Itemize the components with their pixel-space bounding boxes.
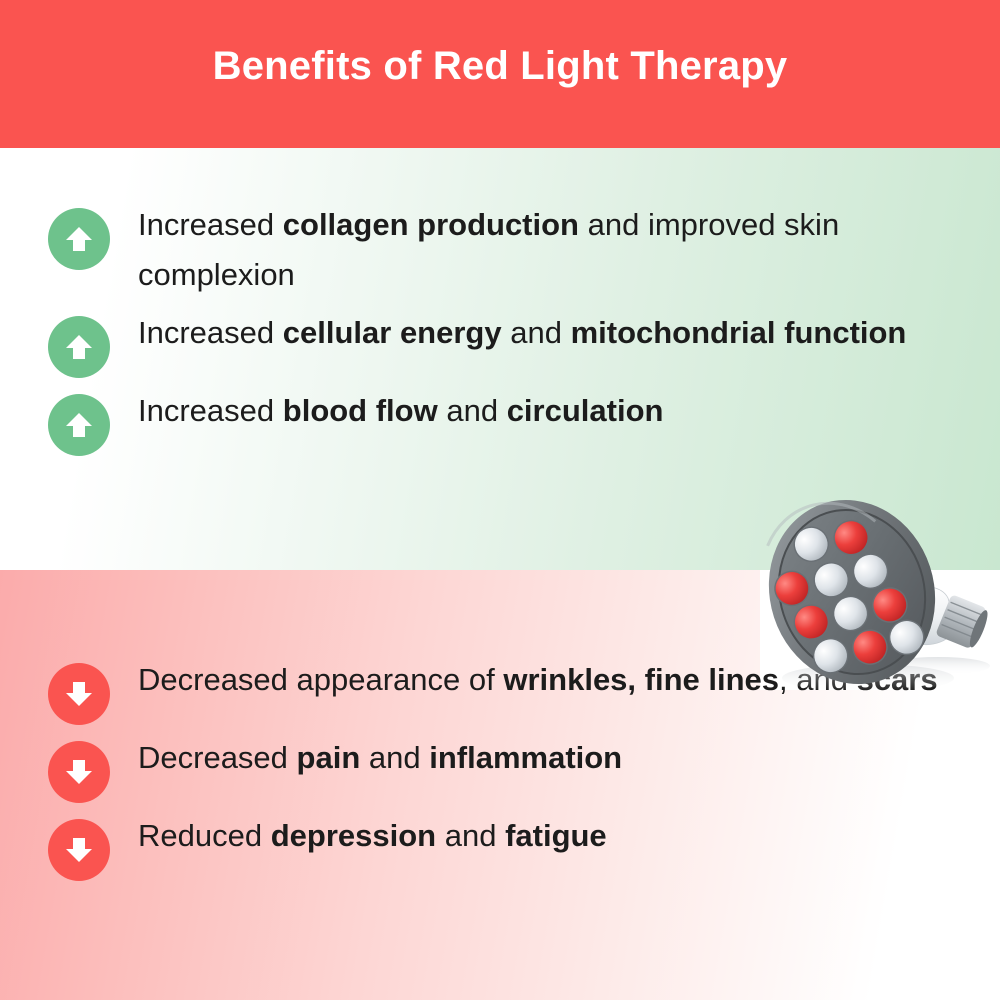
bullet-text: Increased collagen production and improv… (138, 200, 978, 300)
page-title: Benefits of Red Light Therapy (0, 44, 1000, 89)
bullet-part: and (436, 818, 505, 853)
arrow-down-icon (48, 663, 110, 725)
bullet-part: and (438, 393, 507, 428)
arrow-down-icon (48, 819, 110, 881)
bullet-text: Increased blood flow and circulation (138, 386, 978, 436)
bullet-item-cellular-energy: Increased cellular energy and mitochondr… (0, 308, 1000, 378)
bullet-part-bold: collagen production (283, 207, 579, 242)
bullet-item-depression: Reduced depression and fatigue (0, 811, 1000, 881)
bullet-text: Increased cellular energy and mitochondr… (138, 308, 978, 358)
bullet-part-bold: cellular energy (283, 315, 502, 350)
bullet-part-bold: blood flow (283, 393, 438, 428)
increases-bullet-list: Increased collagen production and improv… (0, 200, 1000, 462)
bullet-part-bold: inflammation (429, 740, 622, 775)
bullet-part: Decreased (138, 740, 297, 775)
arrow-up-icon (48, 394, 110, 456)
bullet-part: and (502, 315, 571, 350)
bullet-item-blood-flow: Increased blood flow and circulation (0, 386, 1000, 456)
bullet-part-bold: mitochondrial function (571, 315, 907, 350)
bullet-part: Decreased appearance of (138, 662, 503, 697)
bullet-item-pain: Decreased pain and inflammation (0, 733, 1000, 803)
bullet-item-collagen: Increased collagen production and improv… (0, 200, 1000, 300)
arrow-up-icon (48, 316, 110, 378)
infographic-canvas: Benefits of Red Light Therapy (0, 0, 1000, 1000)
bullet-text: Reduced depression and fatigue (138, 811, 978, 861)
arrow-down-icon (48, 741, 110, 803)
bullet-part: Increased (138, 207, 283, 242)
bullet-part-bold: wrinkles, fine lines (503, 662, 779, 697)
bullet-part: and (360, 740, 429, 775)
bullet-part-bold: fatigue (505, 818, 607, 853)
header-band: Benefits of Red Light Therapy (0, 0, 1000, 148)
bullet-part: Reduced (138, 818, 271, 853)
bullet-part: Increased (138, 315, 283, 350)
bullet-part: Increased (138, 393, 283, 428)
bullet-part-bold: depression (271, 818, 436, 853)
product-image-red-light-bulb (756, 482, 1000, 694)
bullet-text: Decreased pain and inflammation (138, 733, 978, 783)
arrow-up-icon (48, 208, 110, 270)
bullet-part-bold: pain (297, 740, 361, 775)
bullet-part-bold: circulation (507, 393, 664, 428)
